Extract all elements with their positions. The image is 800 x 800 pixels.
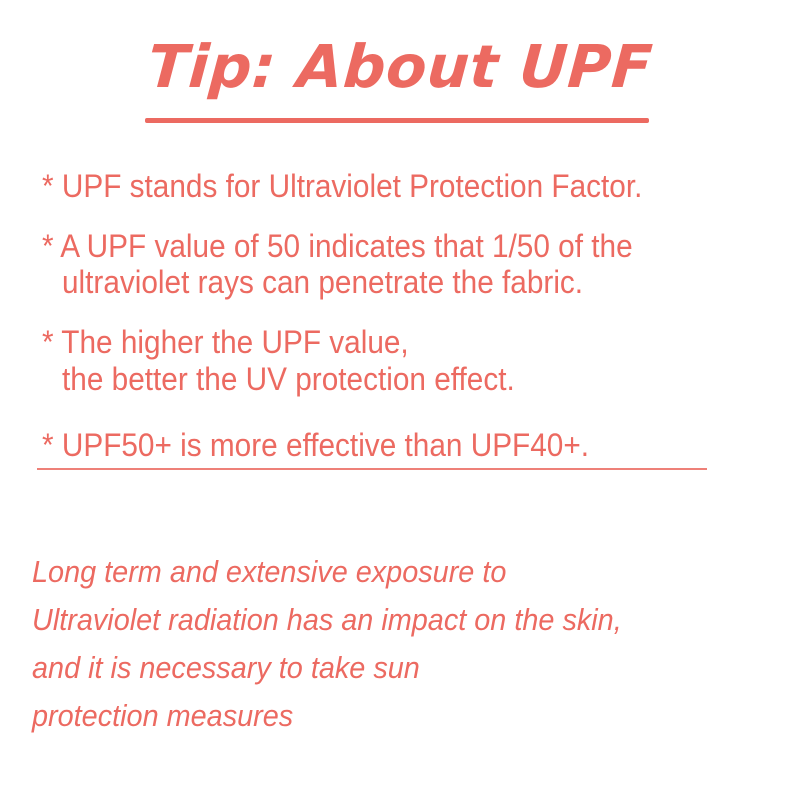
bullet-item-upf50-vs-upf40: * UPF50+ is more effective than UPF40+. bbox=[0, 427, 800, 463]
upf-tip-infographic: Tip: About UPF * UPF stands for Ultravio… bbox=[0, 0, 800, 800]
bullet-underline-rule bbox=[37, 468, 707, 470]
page-title: Tip: About UPF bbox=[146, 36, 655, 98]
closing-text-line: and it is necessary to take sun bbox=[32, 644, 739, 692]
bullet-text-line: ultraviolet rays can penetrate the fabri… bbox=[62, 264, 748, 300]
bullet-text-line: * The higher the UPF value, bbox=[42, 324, 747, 360]
bullet-text-line: * UPF stands for Ultraviolet Protection … bbox=[42, 168, 747, 204]
closing-text-line: Long term and extensive exposure to bbox=[32, 548, 739, 596]
closing-text-line: Ultraviolet radiation has an impact on t… bbox=[32, 596, 739, 644]
bullet-item-upf-definition: * UPF stands for Ultraviolet Protection … bbox=[0, 168, 800, 204]
bullet-text-line: the better the UV protection effect. bbox=[62, 361, 748, 397]
bullet-item-higher-upf: * The higher the UPF value, the better t… bbox=[0, 324, 800, 396]
bullet-item-upf-value-50: * A UPF value of 50 indicates that 1/50 … bbox=[0, 228, 800, 300]
title-underline-rule bbox=[145, 118, 649, 123]
bullet-text-line: * A UPF value of 50 indicates that 1/50 … bbox=[42, 228, 747, 264]
bullet-list: * UPF stands for Ultraviolet Protection … bbox=[0, 168, 800, 463]
bullet-text-line: * UPF50+ is more effective than UPF40+. bbox=[42, 427, 747, 463]
title-block: Tip: About UPF bbox=[0, 36, 800, 98]
closing-paragraph: Long term and extensive exposure to Ultr… bbox=[32, 548, 792, 740]
closing-text-line: protection measures bbox=[32, 692, 739, 740]
